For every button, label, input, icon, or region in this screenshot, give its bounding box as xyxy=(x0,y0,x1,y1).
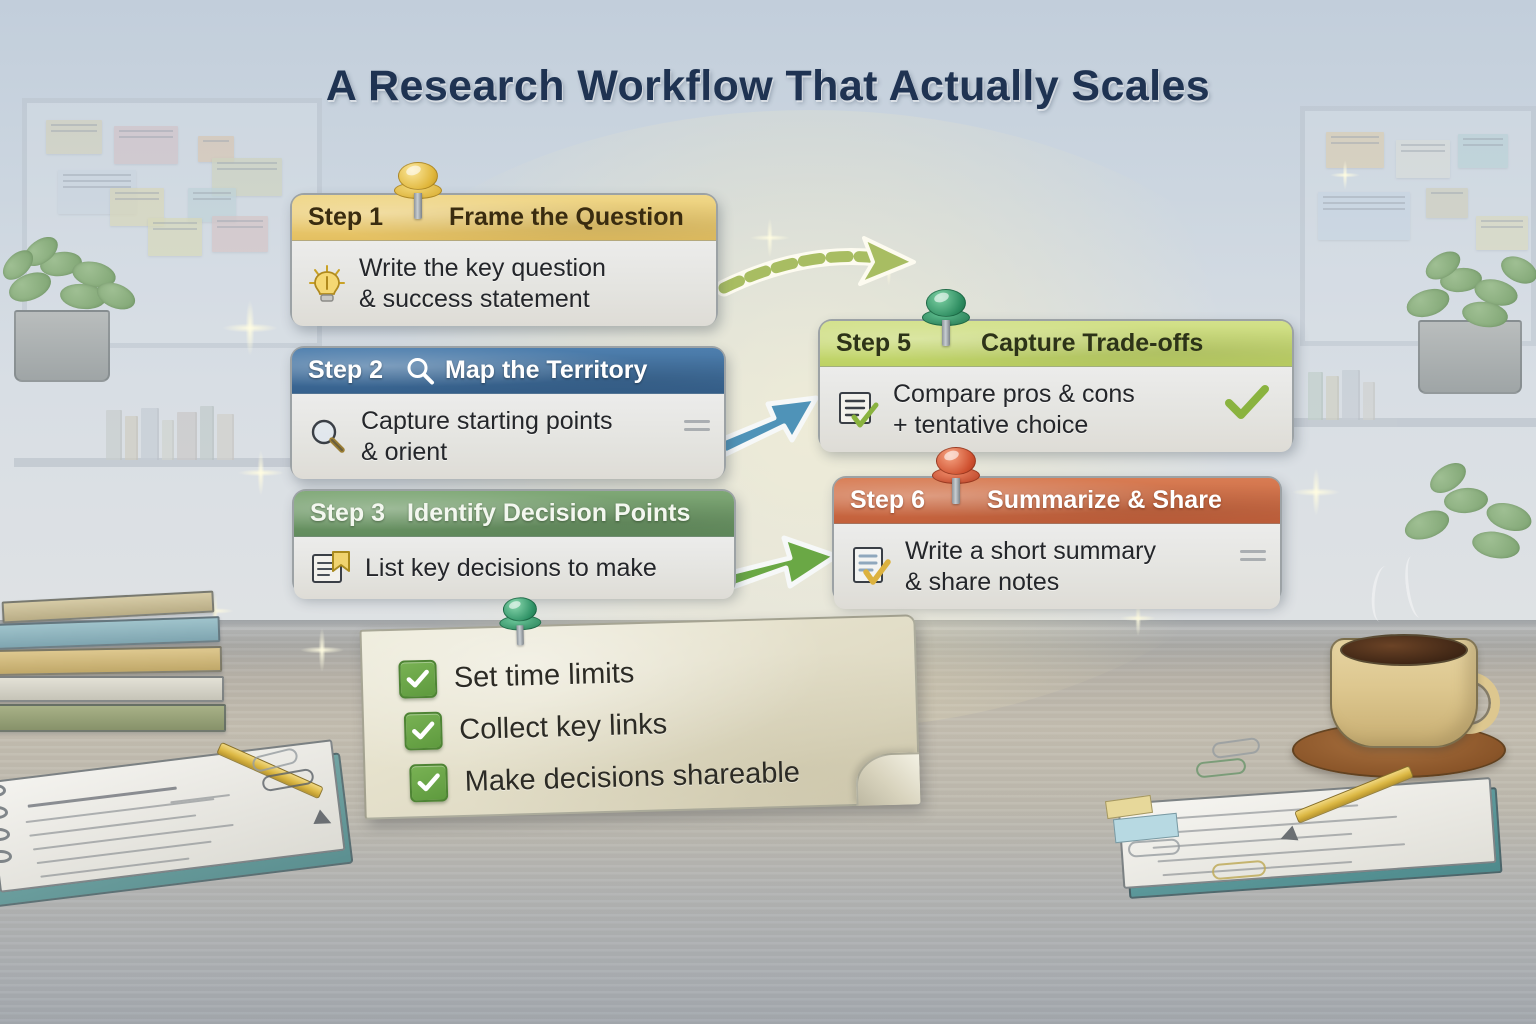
pushpin-yellow-icon xyxy=(392,162,444,222)
checklist-item-label: Make decisions shareable xyxy=(464,756,800,798)
checkbox-checked-icon[interactable] xyxy=(409,763,448,802)
drag-grip[interactable] xyxy=(684,420,710,432)
plant-leaves-left xyxy=(0,222,160,322)
step-2-body-text: Capture starting points& orient xyxy=(361,406,613,467)
step-title: Map the Territory xyxy=(445,356,647,385)
step-card-3-body: List key decisions to make xyxy=(294,537,734,599)
step-title: Frame the Question xyxy=(449,203,684,232)
plant-leaves-right xyxy=(1396,236,1536,336)
step-title: Summarize & Share xyxy=(987,486,1222,515)
illustration-scene: Step 1 Frame the Question Write the key … xyxy=(0,0,1536,1024)
page-title: A Research Workflow That Actually Scales xyxy=(0,62,1536,111)
book-stack xyxy=(0,596,240,736)
document-check-icon xyxy=(836,389,880,431)
drag-grip[interactable] xyxy=(1240,550,1266,562)
magnifier-icon xyxy=(405,356,435,386)
step-card-1-header: Step 1 Frame the Question xyxy=(292,195,716,241)
step-number: Step 3 xyxy=(310,499,385,528)
step-title: Capture Trade-offs xyxy=(981,329,1203,358)
plant-leaves-lower-right xyxy=(1398,452,1536,572)
step-card-1[interactable]: Step 1 Frame the Question Write the key … xyxy=(290,193,718,326)
step-card-3[interactable]: Step 3 Identify Decision Points List key… xyxy=(292,489,736,595)
note-list-icon xyxy=(310,549,352,587)
step-card-6-header: Step 6 Summarize & Share xyxy=(834,478,1280,524)
checkbox-checked-icon[interactable] xyxy=(398,660,437,699)
document-check-icon xyxy=(850,545,892,589)
lightbulb-icon xyxy=(308,264,346,304)
checklist-item[interactable]: Collect key links xyxy=(404,698,917,750)
checkbox-checked-icon[interactable] xyxy=(404,712,443,751)
pushpin-red-icon xyxy=(930,447,982,507)
pushpin-green-icon xyxy=(920,289,972,349)
step-card-6[interactable]: Step 6 Summarize & Share Write a short s… xyxy=(832,476,1282,603)
open-notebook xyxy=(0,740,354,890)
spiral-binding xyxy=(0,784,2,884)
checklist-item[interactable]: Make decisions shareable xyxy=(409,750,918,802)
magnifier-icon xyxy=(308,417,348,457)
step-1-body-text: Write the key question& success statemen… xyxy=(359,253,606,314)
step-card-2[interactable]: Step 2 Map the Territory Capture startin… xyxy=(290,346,726,479)
step-6-body-text: Write a short summary& share notes xyxy=(905,536,1156,597)
step-number: Step 6 xyxy=(850,486,925,515)
step-number: Step 1 xyxy=(308,203,383,232)
step-number: Step 2 xyxy=(308,356,383,385)
check-icon xyxy=(1224,383,1270,428)
checklist-item-label: Collect key links xyxy=(459,708,668,747)
step-card-1-body: Write the key question& success statemen… xyxy=(292,241,716,326)
pushpin-green-icon xyxy=(497,597,544,652)
checklist-item-label: Set time limits xyxy=(453,657,634,695)
step-5-body-text: Compare pros & cons+ tentative choice xyxy=(893,379,1135,440)
step-card-5-body: Compare pros & cons+ tentative choice xyxy=(820,367,1292,452)
step-card-6-body: Write a short summary& share notes xyxy=(834,524,1280,609)
step-card-3-header: Step 3 Identify Decision Points xyxy=(294,491,734,537)
checklist-item[interactable]: Set time limits xyxy=(398,646,915,698)
step-number: Step 5 xyxy=(836,329,911,358)
step-card-2-header: Step 2 Map the Territory xyxy=(292,348,724,394)
checklist-note[interactable]: Set time limits Collect key links Make d… xyxy=(359,614,920,819)
step-title: Identify Decision Points xyxy=(407,499,690,528)
coffee-liquid xyxy=(1340,634,1468,666)
step-card-5[interactable]: Step 5 Capture Trade-offs Compare pros &… xyxy=(818,319,1294,450)
step-card-5-header: Step 5 Capture Trade-offs xyxy=(820,321,1292,367)
step-card-2-body: Capture starting points& orient xyxy=(292,394,724,479)
step-3-body-text: List key decisions to make xyxy=(365,553,657,584)
